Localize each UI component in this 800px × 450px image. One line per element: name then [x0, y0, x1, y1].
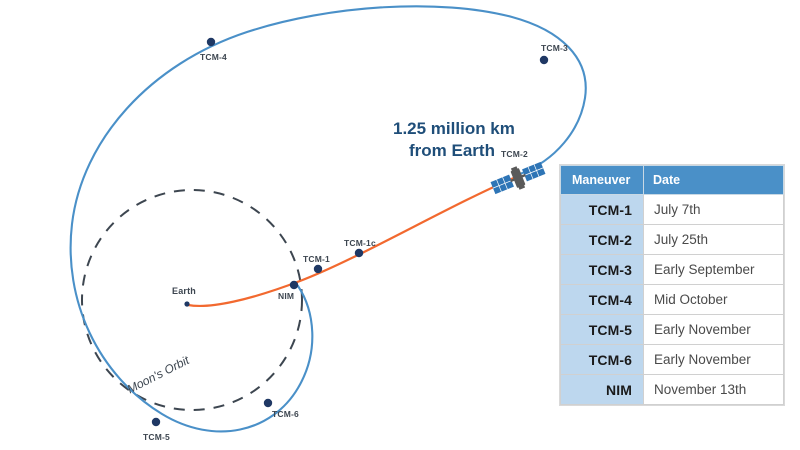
- maneuver-schedule-table: Maneuver Date TCM-1July 7thTCM-2July 25t…: [560, 165, 784, 405]
- label-tcm4: TCM-4: [200, 52, 227, 62]
- cell-date: Early September: [644, 255, 784, 285]
- cell-maneuver: TCM-4: [561, 285, 644, 315]
- label-tcm3: TCM-3: [541, 43, 568, 53]
- table-row: TCM-4Mid October: [561, 285, 784, 315]
- cell-date: Early November: [644, 345, 784, 375]
- moon-orbit-path: [82, 190, 302, 410]
- table-header-row: Maneuver Date: [561, 166, 784, 195]
- column-header-date: Date: [644, 166, 784, 195]
- cell-maneuver: TCM-3: [561, 255, 644, 285]
- cell-date: July 25th: [644, 225, 784, 255]
- earth-dot-icon: [184, 301, 189, 306]
- table-row: TCM-3Early September: [561, 255, 784, 285]
- table-row: TCM-6Early November: [561, 345, 784, 375]
- marker-tcm5: [152, 418, 160, 426]
- label-tcm6: TCM-6: [272, 409, 299, 419]
- table-row: NIMNovember 13th: [561, 375, 784, 405]
- distance-callout-line2: from Earth: [393, 140, 515, 162]
- trajectory-diagram: Earth Moon's Orbit TCM-4 TCM-3 TCM-1c TC…: [0, 0, 800, 450]
- cell-maneuver: TCM-1: [561, 195, 644, 225]
- label-earth: Earth: [172, 286, 196, 296]
- marker-tcm3: [540, 56, 548, 64]
- marker-tcm1c: [355, 249, 363, 257]
- cell-date: November 13th: [644, 375, 784, 405]
- marker-tcm4: [207, 38, 215, 46]
- table-row: TCM-5Early November: [561, 315, 784, 345]
- satellite-icon: [489, 157, 548, 199]
- marker-tcm1: [314, 265, 322, 273]
- table-body: TCM-1July 7thTCM-2July 25thTCM-3Early Se…: [561, 195, 784, 405]
- label-tcm1c: TCM-1c: [344, 238, 376, 248]
- table-row: TCM-2July 25th: [561, 225, 784, 255]
- blue-trajectory-path: [71, 6, 586, 431]
- marker-nim: [290, 281, 298, 289]
- label-tcm1: TCM-1: [303, 254, 330, 264]
- table-row: TCM-1July 7th: [561, 195, 784, 225]
- cell-date: Early November: [644, 315, 784, 345]
- label-tcm5: TCM-5: [143, 432, 170, 442]
- marker-tcm6: [264, 399, 272, 407]
- column-header-maneuver: Maneuver: [561, 166, 644, 195]
- cell-maneuver: TCM-6: [561, 345, 644, 375]
- cell-date: July 7th: [644, 195, 784, 225]
- label-nim: NIM: [278, 291, 294, 301]
- cell-maneuver: TCM-2: [561, 225, 644, 255]
- distance-callout-line1: 1.25 million km: [393, 119, 515, 138]
- cell-maneuver: NIM: [561, 375, 644, 405]
- distance-callout: 1.25 million km from Earth: [393, 118, 515, 162]
- cell-maneuver: TCM-5: [561, 315, 644, 345]
- cell-date: Mid October: [644, 285, 784, 315]
